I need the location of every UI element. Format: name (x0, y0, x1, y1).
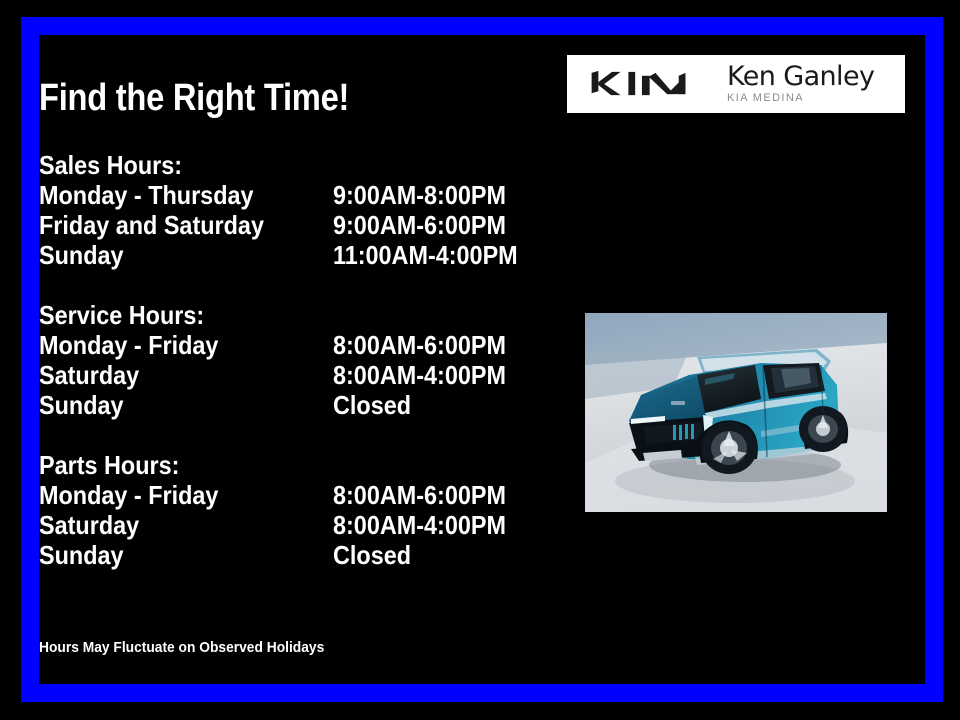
hours-row-day: Saturday (39, 360, 304, 390)
hours-row-day: Sunday (39, 240, 304, 270)
hours-row: SundayClosed (39, 390, 559, 420)
kia-ev9-suv-photo (585, 313, 887, 512)
dealer-name-block: Ken Ganley KIA MEDINA (727, 63, 874, 105)
dealer-subtitle: KIA MEDINA (727, 91, 874, 105)
hours-row: Monday - Thursday9:00AM-8:00PM (39, 180, 559, 210)
hours-row: Saturday8:00AM-4:00PM (39, 510, 559, 540)
hours-row-time: 9:00AM-8:00PM (333, 180, 506, 210)
hours-row-day: Friday and Saturday (39, 210, 304, 240)
kia-logo-icon (581, 69, 699, 99)
hours-row: Saturday8:00AM-4:00PM (39, 360, 559, 390)
hours-section: Sales Hours:Monday - Thursday9:00AM-8:00… (39, 150, 559, 270)
dealer-name: Ken Ganley (727, 63, 874, 91)
hours-row: Sunday11:00AM-4:00PM (39, 240, 559, 270)
dealership-hours-slide: Find the Right Time! Sales Hours:Monday … (0, 0, 960, 720)
hours-row-time: 9:00AM-6:00PM (333, 210, 506, 240)
dealer-logo-card: Ken Ganley KIA MEDINA (567, 55, 905, 113)
hours-row-day: Monday - Friday (39, 480, 304, 510)
hours-row-time: Closed (333, 390, 411, 420)
hours-row: Monday - Friday8:00AM-6:00PM (39, 480, 559, 510)
hours-row-day: Sunday (39, 540, 304, 570)
hours-section-heading: Parts Hours: (39, 450, 507, 480)
hours-row: Friday and Saturday9:00AM-6:00PM (39, 210, 559, 240)
hours-row-time: 11:00AM-4:00PM (333, 240, 518, 270)
hours-row-time: 8:00AM-6:00PM (333, 330, 506, 360)
hours-row-time: 8:00AM-6:00PM (333, 480, 506, 510)
hours-row-day: Saturday (39, 510, 304, 540)
page-title: Find the Right Time! (39, 76, 349, 120)
hours-row-time: Closed (333, 540, 411, 570)
hours-section-heading: Service Hours: (39, 300, 507, 330)
hours-section: Parts Hours:Monday - Friday8:00AM-6:00PM… (39, 450, 559, 570)
hours-row-day: Sunday (39, 390, 304, 420)
hours-row-day: Monday - Friday (39, 330, 304, 360)
hours-section-heading: Sales Hours: (39, 150, 507, 180)
holiday-disclaimer: Hours May Fluctuate on Observed Holidays (39, 639, 324, 657)
hours-row: Monday - Friday8:00AM-6:00PM (39, 330, 559, 360)
hours-row-day: Monday - Thursday (39, 180, 304, 210)
hours-row-time: 8:00AM-4:00PM (333, 510, 506, 540)
hours-block: Sales Hours:Monday - Thursday9:00AM-8:00… (39, 150, 559, 570)
hours-row-time: 8:00AM-4:00PM (333, 360, 506, 390)
hours-section: Service Hours:Monday - Friday8:00AM-6:00… (39, 300, 559, 420)
hours-row: SundayClosed (39, 540, 559, 570)
